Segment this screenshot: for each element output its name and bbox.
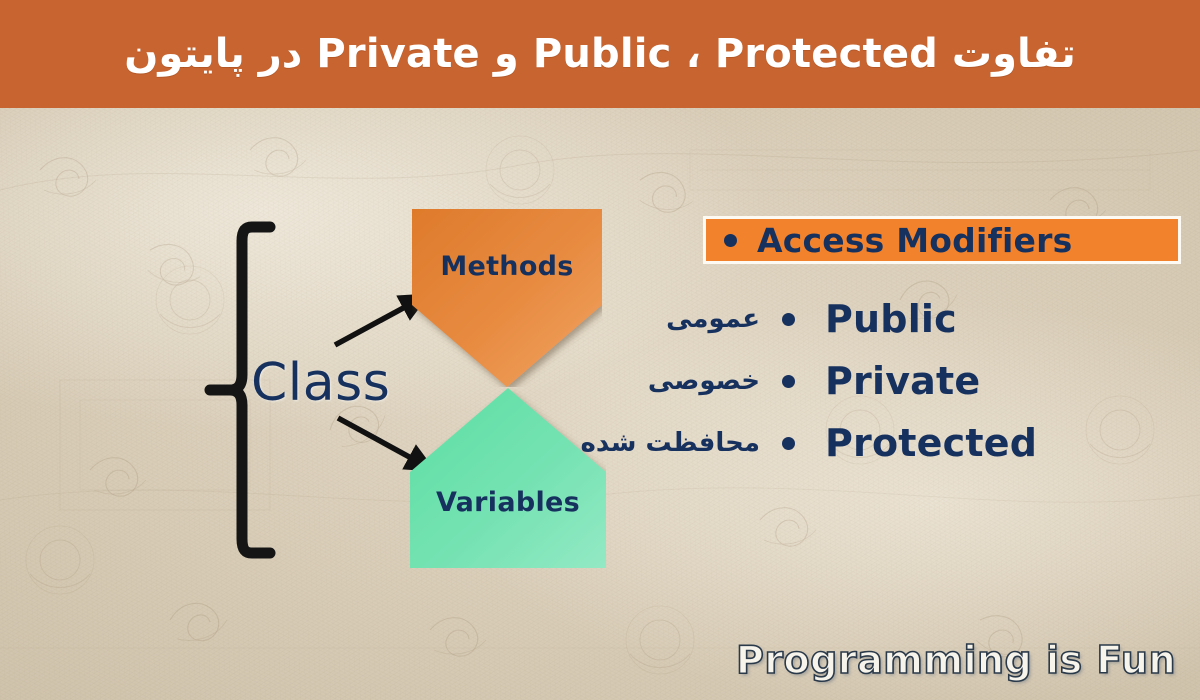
access-modifiers-heading: Access Modifiers [757, 221, 1072, 260]
modifier-label-fa: عمومی [560, 304, 782, 334]
modifier-label-en: Public [825, 297, 957, 341]
bullet-dot-icon [782, 375, 795, 388]
modifier-label-en: Protected [825, 421, 1037, 465]
list-item[interactable]: عمومی Public [560, 288, 1180, 350]
access-modifiers-list: عمومی Public خصوصی Private محافظت شده Pr… [560, 288, 1180, 474]
list-item[interactable]: خصوصی Private [560, 350, 1180, 412]
modifier-label-fa: محافظت شده [560, 428, 782, 458]
list-item[interactable]: محافظت شده Protected [560, 412, 1180, 474]
footer-tagline: Programming is Fun [736, 638, 1176, 682]
access-modifiers-heading-bar: Access Modifiers [703, 216, 1181, 264]
slide-canvas: تفاوت Public ، Protected و Private در پا… [0, 0, 1200, 700]
bullet-dot-icon [782, 313, 795, 326]
bullet-dot-icon [782, 437, 795, 450]
bullet-dot-icon [724, 234, 737, 247]
arrow-up-right-icon [335, 300, 418, 345]
modifier-label-en: Private [825, 359, 980, 403]
modifier-label-fa: خصوصی [560, 366, 782, 396]
